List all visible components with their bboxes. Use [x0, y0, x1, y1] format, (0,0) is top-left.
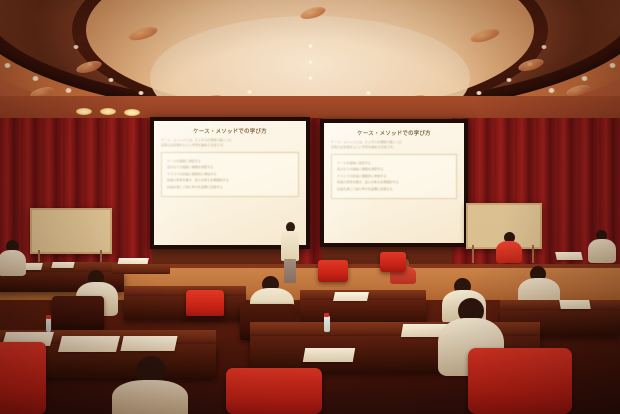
- chair-red[interactable]: [0, 342, 46, 414]
- paper-sheet: [303, 348, 355, 362]
- water-bottle: [46, 318, 51, 332]
- attendee-body: [496, 241, 522, 263]
- soffit-downlight: [76, 108, 92, 115]
- right-projection-screen: ケース・メソッドでの学び方 ケース・メソッドとは、ビジネスの現場で起こった 実際…: [320, 119, 468, 247]
- ceiling-spotlight: [308, 44, 313, 48]
- desk-row-far: [112, 264, 170, 274]
- slide-bullet: ケースを事前に熟読する: [167, 160, 293, 163]
- paper-sheet: [58, 336, 120, 352]
- slide-bullet: クラスでの討議に積極的に参加する: [337, 175, 451, 178]
- chair-red[interactable]: [318, 260, 348, 282]
- slide-bullet: 自分なりの結論と根拠を用意する: [337, 168, 451, 171]
- slide-intro-line: 実際の出来事をもとに学習を進める方法です。: [331, 145, 457, 150]
- slide-bullet: 他者の意見を聴き、自らの考えを再検討する: [167, 179, 293, 182]
- presenter-jacket: [281, 231, 299, 261]
- ceiling-spotlight: [308, 76, 313, 80]
- ceiling-spotlight: [609, 63, 616, 68]
- ceiling-spotlight: [73, 45, 79, 49]
- slide-bullet: クラスでの討議に積極的に参加する: [167, 173, 293, 176]
- slide-bullet: 討議を通じて得た学びを実務に応用する: [337, 188, 451, 191]
- presenter-trousers: [284, 259, 296, 283]
- slide-bullet: 他者の意見を聴き、自らの考えを再検討する: [337, 181, 451, 184]
- attendee-body: [588, 239, 616, 263]
- ceiling-spotlight: [506, 78, 512, 82]
- slide-intro-line: 実際の出来事をもとに学習を進める方法です。: [161, 143, 299, 148]
- ceiling-spotlight: [308, 60, 313, 64]
- paper-sheet: [333, 292, 369, 301]
- ceiling-spotlight: [108, 78, 114, 82]
- slide-bullet: 討議を通じて得た学びを実務に応用する: [167, 186, 293, 189]
- ceiling-spotlight: [366, 91, 371, 95]
- soffit-downlight: [100, 108, 116, 115]
- soffit-downlight: [124, 109, 140, 116]
- attendee-body: [112, 380, 188, 414]
- paper-sheet: [51, 262, 74, 268]
- slide-bullet-box-left: ケースを事前に熟読する 自分なりの結論と根拠を用意する クラスでの討議に積極的に…: [161, 152, 299, 197]
- ceiling-spotlight: [247, 90, 252, 94]
- whiteboard-left: [30, 208, 112, 254]
- whiteboard-leg: [472, 245, 474, 263]
- paper-sheet: [555, 252, 583, 260]
- ceiling-spotlight: [541, 45, 547, 49]
- water-bottle: [324, 316, 330, 332]
- desk-row-middle: [300, 300, 426, 324]
- paper-sheet: [559, 300, 591, 309]
- slide-bullet-box-right: ケースを事前に熟読する 自分なりの結論と根拠を用意する クラスでの討議に積極的に…: [331, 154, 457, 199]
- slide-bullet: ケースを事前に熟読する: [337, 162, 451, 165]
- chair-red[interactable]: [468, 348, 572, 414]
- paper-sheet: [120, 336, 177, 351]
- chair-red[interactable]: [380, 252, 406, 272]
- desk-row-middle: [124, 296, 246, 320]
- chair-dark[interactable]: [52, 296, 104, 330]
- attendee-body: [0, 250, 26, 276]
- slide-title-left: ケース・メソッドでの学び方: [161, 127, 299, 135]
- chair-red[interactable]: [226, 368, 322, 414]
- lecture-hall-photo: ケース・メソッドでの学び方 ケース・メソッドとは、ビジネスの現場で起こった 実際…: [0, 0, 620, 414]
- chair-red[interactable]: [186, 290, 224, 316]
- slide-bullet: 自分なりの結論と根拠を用意する: [167, 166, 293, 169]
- whiteboard-leg: [532, 245, 534, 263]
- slide-title-right: ケース・メソッドでの学び方: [331, 129, 457, 137]
